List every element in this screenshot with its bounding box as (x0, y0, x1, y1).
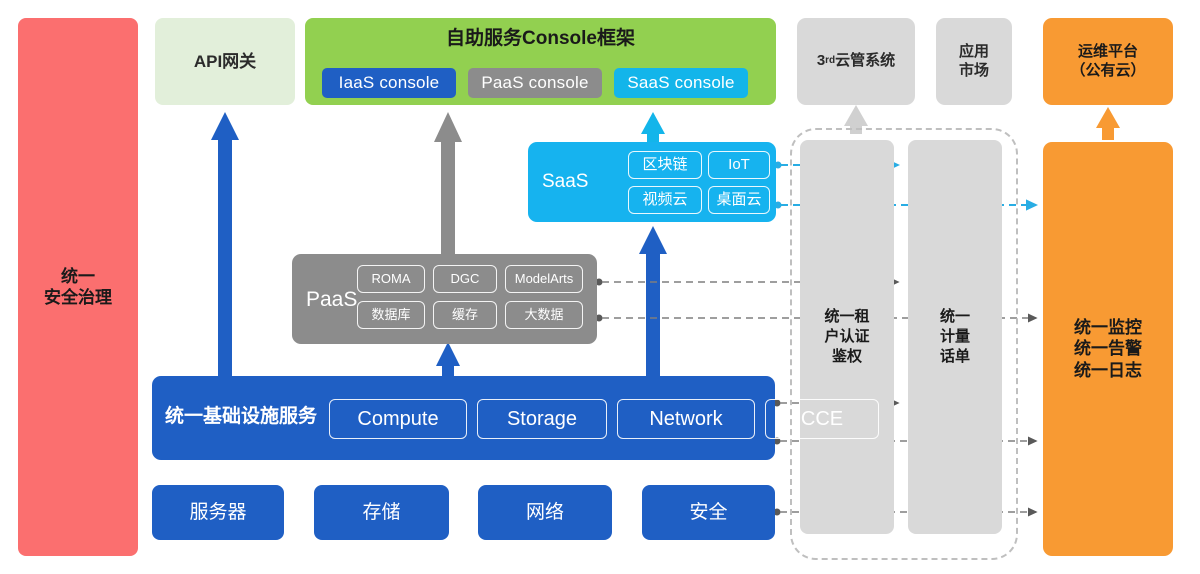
arrow-iaas-to-paas (436, 342, 460, 378)
box-third-party-cloud-mgmt[interactable]: 3rd云管系统 (797, 18, 915, 105)
box-app-market[interactable]: 应用 市场 (936, 18, 1012, 105)
paas-chip-database[interactable]: 数据库 (357, 301, 425, 329)
box-servers[interactable]: 服务器 (152, 485, 284, 540)
column-unified-tenant-auth[interactable]: 统一租 户认证 鉴权 (800, 140, 894, 534)
arrow-saas-to-saas-console (641, 112, 665, 144)
column-unified-metering[interactable]: 统一 计量 话单 (908, 140, 1002, 534)
pill-iaas-console[interactable]: IaaS console (322, 68, 456, 98)
arrow-iaas-to-apigw (211, 112, 239, 376)
arrow-opspanel-to-opsplatform (1096, 107, 1120, 140)
box-ops-platform-public-cloud[interactable]: 运维平台 （公有云） (1043, 18, 1173, 105)
iaas-chip-compute[interactable]: Compute (329, 399, 467, 439)
third-cloud-prefix: 3 (817, 52, 825, 71)
iaas-chip-cce[interactable]: CCE (765, 399, 879, 439)
paas-chip-dgc[interactable]: DGC (433, 265, 497, 293)
panel-unified-monitor-alarm-log[interactable]: 统一监控 统一告警 统一日志 (1043, 142, 1173, 556)
iaas-chip-network[interactable]: Network (617, 399, 755, 439)
panel-unified-security-governance[interactable]: 统一 安全治理 (18, 18, 138, 556)
block-unified-infrastructure-service: 统一基础设施服务 Compute Storage Network CCE (152, 376, 775, 460)
paas-label: PaaS (306, 287, 357, 313)
saas-chip-blockchain[interactable]: 区块链 (628, 151, 702, 179)
iaas-label: 统一基础设施服务 (165, 405, 317, 429)
panel-self-service-console-framework: 自助服务Console框架 IaaS console PaaS console … (305, 18, 776, 105)
arrow-iaas-to-saas (639, 226, 667, 376)
paas-chip-cache[interactable]: 缓存 (433, 301, 497, 329)
architecture-diagram: 统一租 户认证 鉴权 统一 计量 话单 统一 安全治理 API网关 自助服务Co… (0, 0, 1200, 574)
block-saas: SaaS 区块链 IoT 视频云 桌面云 (528, 142, 776, 222)
block-paas: PaaS ROMA DGC ModelArts 数据库 缓存 大数据 (292, 254, 597, 344)
box-api-gateway[interactable]: API网关 (155, 18, 295, 105)
saas-chip-video-cloud[interactable]: 视频云 (628, 186, 702, 214)
paas-chip-roma[interactable]: ROMA (357, 265, 425, 293)
saas-chip-desktop-cloud[interactable]: 桌面云 (708, 186, 770, 214)
saas-label: SaaS (542, 170, 588, 194)
iaas-chip-storage[interactable]: Storage (477, 399, 607, 439)
arrow-paas-to-console (434, 112, 462, 254)
console-framework-title: 自助服务Console框架 (305, 27, 776, 51)
box-network[interactable]: 网络 (478, 485, 612, 540)
pill-saas-console[interactable]: SaaS console (614, 68, 748, 98)
saas-chip-iot[interactable]: IoT (708, 151, 770, 179)
third-cloud-suffix: 云管系统 (835, 52, 895, 71)
box-storage[interactable]: 存储 (314, 485, 449, 540)
box-security[interactable]: 安全 (642, 485, 775, 540)
paas-chip-bigdata[interactable]: 大数据 (505, 301, 583, 329)
pill-paas-console[interactable]: PaaS console (468, 68, 602, 98)
paas-chip-modelarts[interactable]: ModelArts (505, 265, 583, 293)
third-cloud-superscript: rd (825, 55, 835, 68)
